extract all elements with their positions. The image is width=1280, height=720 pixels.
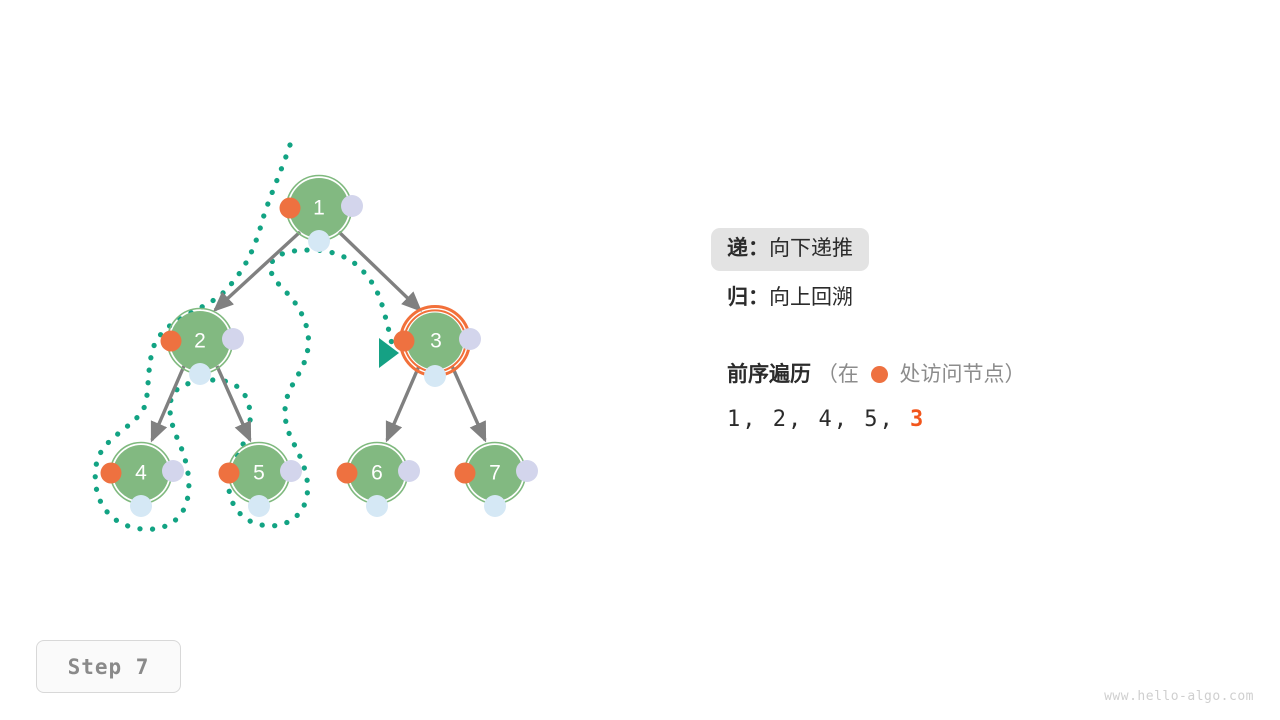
tree-node-7[interactable]: 7 — [455, 443, 539, 518]
edge-3-6 — [387, 366, 419, 440]
return-label: 归 — [727, 286, 748, 309]
bottom-slot-dot-icon — [424, 365, 446, 387]
recurse-legend-line: 递：向下递推 — [727, 228, 1207, 271]
right-slot-dot-icon — [222, 328, 244, 350]
visit-dot-legend-icon — [871, 366, 888, 383]
edge-1-2 — [215, 232, 300, 310]
recurse-text: 向下递推 — [769, 237, 853, 260]
return-colon: ： — [748, 286, 769, 309]
recurse-legend-highlight: 递：向下递推 — [711, 228, 869, 271]
bottom-slot-dot-icon — [366, 495, 388, 517]
traversal-sequence: 1, 2, 4, 5, 3 — [727, 407, 1207, 432]
node-label: 3 — [430, 330, 442, 353]
step-badge: Step 7 — [36, 640, 181, 693]
right-slot-dot-icon — [280, 460, 302, 482]
bottom-slot-dot-icon — [484, 495, 506, 517]
recurse-label: 递 — [727, 237, 748, 260]
node-label: 6 — [371, 462, 383, 485]
tree-node-6[interactable]: 6 — [337, 443, 421, 518]
visit-dot-icon — [337, 463, 358, 484]
traversal-title-row: 前序遍历 （在 处访问节点） — [727, 364, 1207, 385]
visit-dot-icon — [219, 463, 240, 484]
tree-node-4[interactable]: 4 — [101, 443, 185, 518]
bottom-slot-dot-icon — [248, 495, 270, 517]
right-slot-dot-icon — [398, 460, 420, 482]
watermark: www.hello-algo.com — [1104, 689, 1254, 704]
edge-2-5 — [217, 366, 250, 440]
right-slot-dot-icon — [341, 195, 363, 217]
right-slot-dot-icon — [459, 328, 481, 350]
node-label: 1 — [313, 197, 325, 220]
bottom-slot-dot-icon — [308, 230, 330, 252]
node-label: 7 — [489, 462, 501, 485]
visit-dot-icon — [455, 463, 476, 484]
node-label: 4 — [135, 462, 147, 485]
explanation-panel: 递：向下递推 归：向上回溯 前序遍历 （在 处访问节点） 1, 2, 4, 5,… — [727, 228, 1207, 432]
right-slot-dot-icon — [162, 460, 184, 482]
visit-dot-icon — [101, 463, 122, 484]
node-label: 5 — [253, 462, 265, 485]
tree-node-5[interactable]: 5 — [219, 443, 303, 518]
visit-dot-icon — [161, 331, 182, 352]
recurse-colon: ： — [748, 237, 769, 260]
tree-node-3[interactable]: 3 — [394, 307, 482, 388]
bottom-slot-dot-icon — [130, 495, 152, 517]
traversal-title: 前序遍历 — [727, 363, 811, 386]
edge-3-7 — [452, 366, 485, 440]
binary-tree-diagram: 1 2 3 4 5 — [0, 0, 640, 600]
traversal-note-open: （在 — [817, 363, 859, 386]
bottom-slot-dot-icon — [189, 363, 211, 385]
return-legend-line: 归：向上回溯 — [727, 271, 1207, 320]
visit-dot-icon — [394, 331, 415, 352]
edge-1-3 — [339, 232, 420, 310]
return-legend-group: 归：向上回溯 — [711, 277, 869, 320]
traversal-order-block: 前序遍历 （在 处访问节点） 1, 2, 4, 5, 3 — [727, 364, 1207, 432]
right-slot-dot-icon — [516, 460, 538, 482]
edge-2-4 — [152, 366, 184, 440]
node-label: 2 — [194, 330, 206, 353]
return-text: 向上回溯 — [769, 286, 853, 309]
traversal-note-close: 处访问节点） — [900, 363, 1026, 386]
traversal-sequence-current: 3 — [910, 407, 925, 432]
visit-dot-icon — [280, 198, 301, 219]
tree-node-2[interactable]: 2 — [161, 309, 245, 386]
traversal-sequence-visited: 1, 2, 4, 5, — [727, 407, 910, 432]
